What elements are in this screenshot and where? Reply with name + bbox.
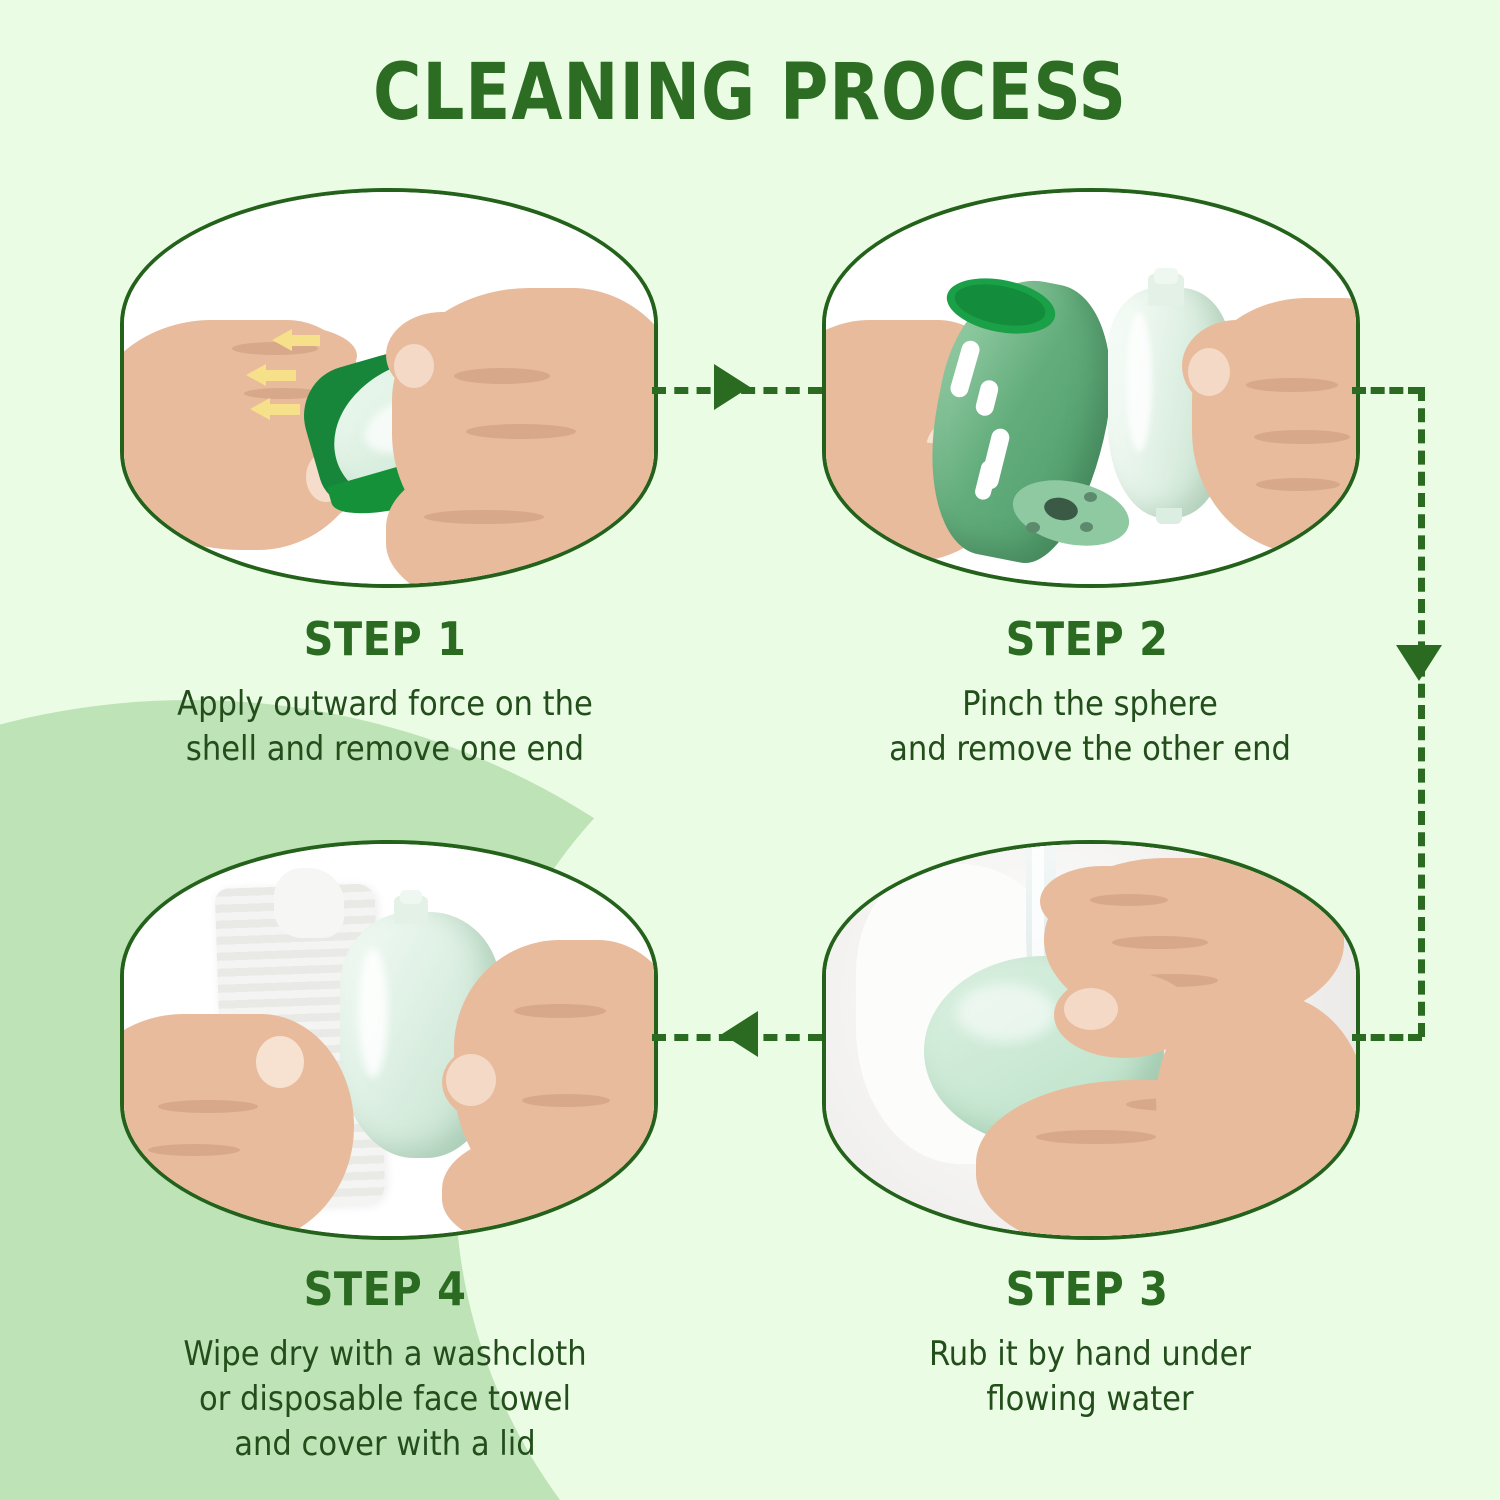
step-4-photo-frame	[120, 840, 658, 1240]
step-1-description: Apply outward force on the shell and rem…	[80, 682, 690, 772]
step-4-title: STEP 4	[120, 1262, 650, 1316]
step-4-photo	[124, 844, 654, 1236]
step-3-photo-frame	[822, 840, 1360, 1240]
page-title: CLEANING PROCESS	[45, 48, 1455, 138]
step-1-photo-frame	[120, 188, 658, 588]
step-2-photo-frame	[822, 188, 1360, 588]
step-3-photo	[826, 844, 1356, 1236]
step-3-description: Rub it by hand under flowing water	[800, 1332, 1380, 1422]
step-1-photo	[124, 192, 654, 584]
step-2-photo	[826, 192, 1356, 584]
infographic-canvas: CLEANING PROCESS	[0, 0, 1500, 1500]
step-2-description: Pinch the sphere and remove the other en…	[790, 682, 1390, 772]
step-2-title: STEP 2	[822, 612, 1352, 666]
step-1-title: STEP 1	[120, 612, 650, 666]
step-4-description: Wipe dry with a washcloth or disposable …	[90, 1332, 680, 1468]
step-3-title: STEP 3	[822, 1262, 1352, 1316]
